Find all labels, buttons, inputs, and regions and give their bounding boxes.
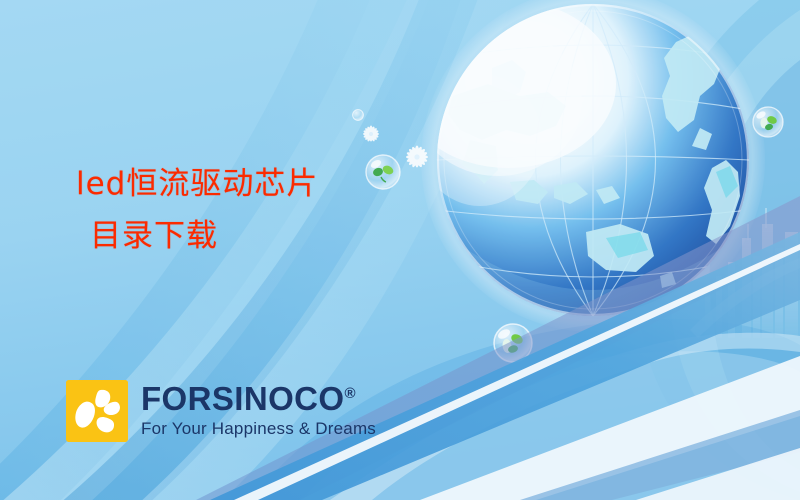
promotional-banner: led恒流驱动芯片 目录下载 FORSINOCO®: [0, 0, 800, 500]
registered-trademark-icon: ®: [344, 385, 355, 402]
company-logo: FORSINOCO® For Your Happiness & Dreams: [66, 380, 376, 442]
logo-text-block: FORSINOCO® For Your Happiness & Dreams: [141, 381, 376, 439]
forsinoco-pinwheel-icon: [66, 380, 128, 442]
logo-tagline: For Your Happiness & Dreams: [141, 418, 376, 439]
logo-wordmark: FORSINOCO®: [141, 381, 376, 417]
logo-wordmark-text: FORSINOCO: [141, 380, 344, 417]
